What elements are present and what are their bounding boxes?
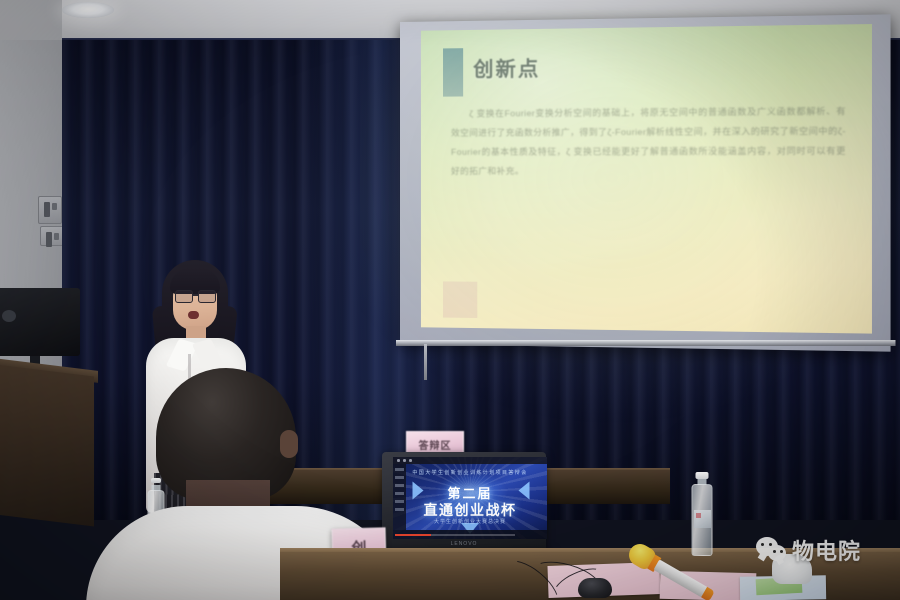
browser-dot-2 xyxy=(403,459,406,462)
projection-screen-post xyxy=(424,344,427,380)
slide-accent-bar xyxy=(443,48,463,96)
browser-dot-1 xyxy=(397,459,400,462)
sidebar-item-5 xyxy=(395,500,404,503)
audience-ear xyxy=(280,430,298,458)
presenter-mouth xyxy=(188,311,199,319)
projection-screen-frame: 创新点 ζ 变换在Fourier变换分析空间的基础上，将原无空间中的普通函数及广… xyxy=(400,14,891,351)
projection-screen-surface: 创新点 ζ 变换在Fourier变换分析空间的基础上，将原无空间中的普通函数及广… xyxy=(421,24,872,334)
browser-dot-3 xyxy=(409,459,412,462)
poster-headline-2: 直通创业战杯 xyxy=(393,500,547,520)
wall-outlet-icon xyxy=(40,226,64,246)
video-player-controls[interactable] xyxy=(393,530,547,539)
sidebar-item-6 xyxy=(395,508,404,511)
bottle-body xyxy=(692,484,713,556)
wall-switch-icon xyxy=(38,196,62,224)
laptop-lid: 中国大学生创新创业训练计划项目答辩会 第二届 直通创业战杯 大学生创新创业大赛总… xyxy=(382,452,546,550)
tissue-pack xyxy=(772,554,812,584)
sidebar-item-2 xyxy=(395,476,404,479)
slide-body-text: ζ 变换在Fourier变换分析空间的基础上，将原无空间中的普通函数及广义函数都… xyxy=(451,102,846,181)
laptop-screen[interactable]: 中国大学生创新创业训练计划项目答辩会 第二届 直通创业战杯 大学生创新创业大赛总… xyxy=(393,457,547,539)
projection-screen-bottom-bar xyxy=(396,340,895,346)
computer-mouse[interactable] xyxy=(578,578,612,598)
video-progress-bar[interactable] xyxy=(395,534,515,536)
wooden-podium xyxy=(0,363,94,526)
wechat-eye-2 xyxy=(769,543,772,546)
dell-monitor xyxy=(0,288,80,356)
bottle-label xyxy=(694,510,711,528)
projection-screen-assembly: 创新点 ζ 变换在Fourier变换分析空间的基础上，将原无空间中的普通函数及广… xyxy=(400,22,870,356)
slide-footer-block xyxy=(443,281,477,318)
poster-subtitle: 大学生创新创业大赛总决赛 xyxy=(393,518,547,525)
video-sidebar[interactable] xyxy=(393,464,406,530)
ceiling-light-icon xyxy=(62,2,114,18)
wechat-eye-1 xyxy=(761,543,764,546)
sidebar-item-1 xyxy=(395,468,404,471)
bottle-cap xyxy=(696,472,709,479)
poster-top-line: 中国大学生创新创业训练计划项目答辩会 xyxy=(403,469,537,476)
laptop-brand-label: LENOVO xyxy=(376,541,552,547)
glasses-lens-left xyxy=(175,290,193,303)
sidebar-item-4 xyxy=(395,492,404,495)
lecture-hall-photo: 创新点 ζ 变换在Fourier变换分析空间的基础上，将原无空间中的普通函数及广… xyxy=(0,0,900,600)
glasses-icon xyxy=(173,290,217,301)
glasses-lens-right xyxy=(198,290,216,303)
monitor-logo-icon xyxy=(2,310,16,322)
sidebar-item-3 xyxy=(395,484,404,487)
browser-toolbar[interactable] xyxy=(393,457,547,464)
glasses-bridge xyxy=(192,294,199,296)
slide-title: 创新点 xyxy=(473,52,540,82)
